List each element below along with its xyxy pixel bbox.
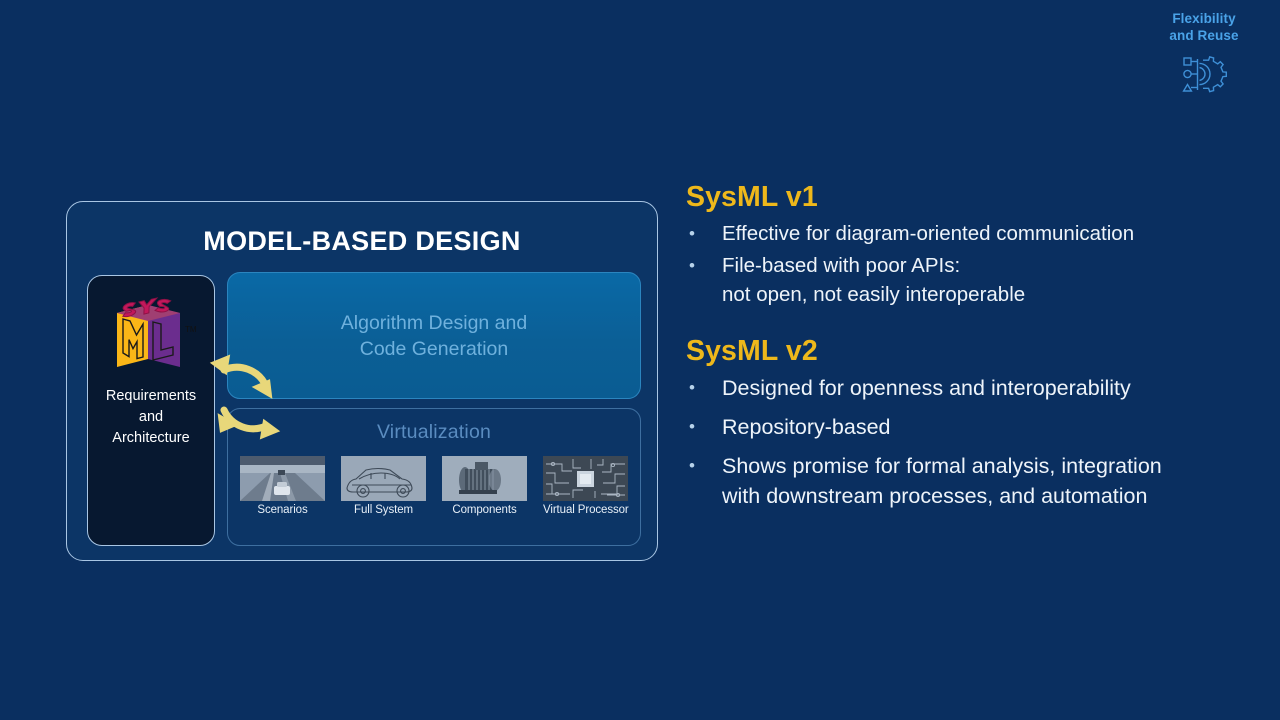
thumbnail-caption: Scenarios [240,504,325,516]
bullet-icon: • [686,451,722,481]
algorithm-design-box[interactable]: Algorithm Design and Code Generation [227,272,641,399]
list-item-text-line-1: Shows promise for formal analysis, integ… [722,451,1162,481]
list-item-text: Designed for openness and interoperabili… [722,373,1131,403]
list-item: • Repository-based [686,412,1280,442]
algorithm-label-line-1: Algorithm Design and [341,310,527,336]
virtualization-title: Virtualization [228,421,640,444]
list-item-text: Shows promise for formal analysis, integ… [722,451,1162,511]
thumbnail-scenarios[interactable]: Scenarios [240,456,325,516]
virtualization-box[interactable]: Virtualization Scenari [227,408,641,546]
algorithm-design-label: Algorithm Design and Code Generation [341,310,527,362]
list-item-text-line-1: File-based with poor APIs: [722,251,1025,280]
electric-motor-thumbnail [442,456,527,501]
badge-line-2: and Reuse [1144,27,1264,44]
list-item: • File-based with poor APIs: not open, n… [686,251,1280,309]
thumbnail-caption: Full System [341,504,426,516]
bullet-icon: • [686,373,722,403]
bullet-icon: • [686,219,722,248]
virtualization-thumbnails: Scenarios [228,456,640,516]
list-item-text: Repository-based [722,412,891,442]
road-scene-thumbnail [240,456,325,501]
sysml-v2-title: SysML v2 [686,334,1280,368]
thumbnail-virtual-processor[interactable]: Virtual Processor [543,456,628,516]
thumbnail-caption: Virtual Processor [543,504,628,516]
sysml-v1-title: SysML v1 [686,180,1280,214]
thumbnail-full-system[interactable]: Full System [341,456,426,516]
sysml-v2-section: SysML v2 • Designed for openness and int… [686,334,1280,511]
circuit-board-thumbnail [543,456,628,501]
list-item: • Shows promise for formal analysis, int… [686,451,1280,511]
list-item-text-line-2: not open, not easily interoperable [722,280,1025,309]
badge-line-1: Flexibility [1144,10,1264,27]
list-item-text: File-based with poor APIs: not open, not… [722,251,1025,309]
list-item: • Effective for diagram-oriented communi… [686,219,1280,248]
sysml-v1-section: SysML v1 • Effective for diagram-oriente… [686,180,1280,309]
requirements-label-line-3: Architecture [106,428,196,449]
algorithm-label-line-2: Code Generation [341,336,527,362]
list-item: • Designed for openness and interoperabi… [686,373,1280,403]
bullet-icon: • [686,251,722,280]
requirements-label: Requirements and Architecture [106,386,196,449]
sysml-v2-bullet-list: • Designed for openness and interoperabi… [686,373,1280,511]
requirements-label-line-1: Requirements [106,386,196,407]
flexibility-and-reuse-badge: Flexibility and Reuse [1144,10,1264,95]
bullet-icon: • [686,412,722,442]
list-item-text: Effective for diagram-oriented communica… [722,219,1134,248]
car-wireframe-thumbnail [341,456,426,501]
list-item-text-line-2: with downstream processes, and automatio… [722,481,1162,511]
gear-shapes-icon [1144,53,1264,95]
svg-text:TM: TM [185,325,197,334]
panel-title: MODEL-BASED DESIGN [67,226,657,257]
sysml-cube-logo: TM [104,285,199,378]
requirements-label-line-2: and [106,407,196,428]
requirements-and-architecture-box[interactable]: TM Requirements and Architecture [87,275,215,546]
sysml-v1-bullet-list: • Effective for diagram-oriented communi… [686,219,1280,309]
model-based-design-panel: MODEL-BASED DESIGN TM [66,201,658,561]
thumbnail-components[interactable]: Components [442,456,527,516]
right-text-column: SysML v1 • Effective for diagram-oriente… [686,180,1280,520]
thumbnail-caption: Components [442,504,527,516]
